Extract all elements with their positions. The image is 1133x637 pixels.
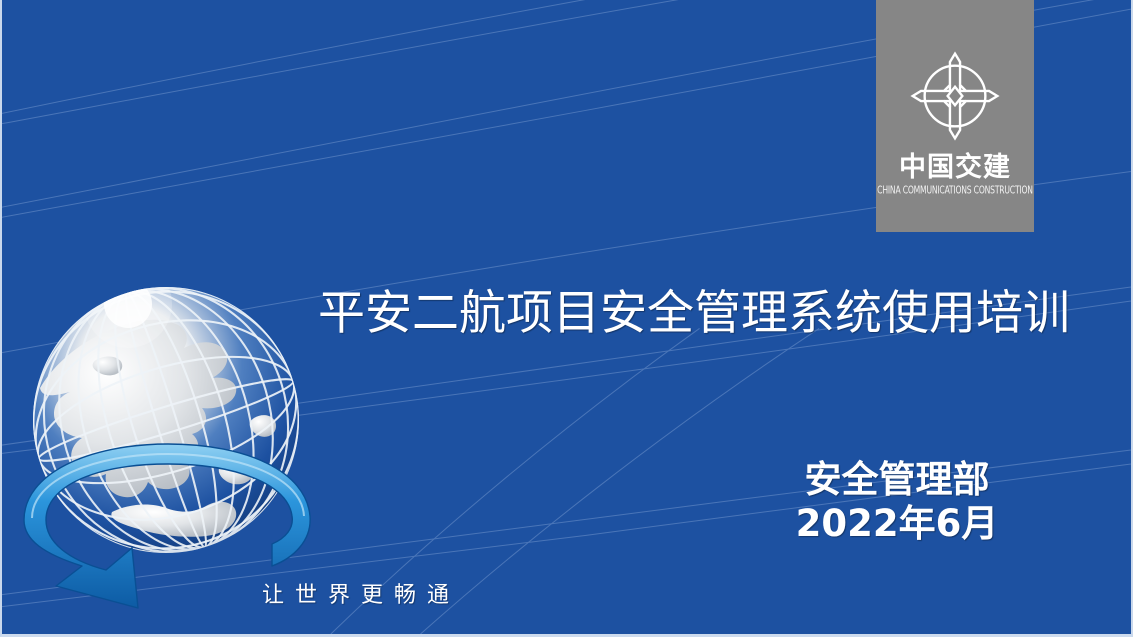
title-slide: 中国交建 CHINA COMMUNICATIONS CONSTRUCTION: [0, 0, 1133, 637]
company-logo-panel: 中国交建 CHINA COMMUNICATIONS CONSTRUCTION: [876, 0, 1034, 232]
logo-english-name: CHINA COMMUNICATIONS CONSTRUCTION: [877, 186, 1033, 197]
cccc-compass-emblem-icon: [909, 50, 1001, 142]
slide-subtitle: 安全管理部 2022年6月: [702, 458, 1092, 545]
company-slogan: 让世界更畅通: [262, 585, 460, 607]
slide-title: 平安二航项目安全管理系统使用培训: [318, 288, 1128, 341]
world-globe-graphic: [10, 268, 346, 616]
subtitle-department: 安全管理部: [702, 458, 1092, 502]
logo-chinese-name: 中国交建: [899, 154, 1011, 181]
subtitle-date: 2022年6月: [702, 502, 1092, 546]
